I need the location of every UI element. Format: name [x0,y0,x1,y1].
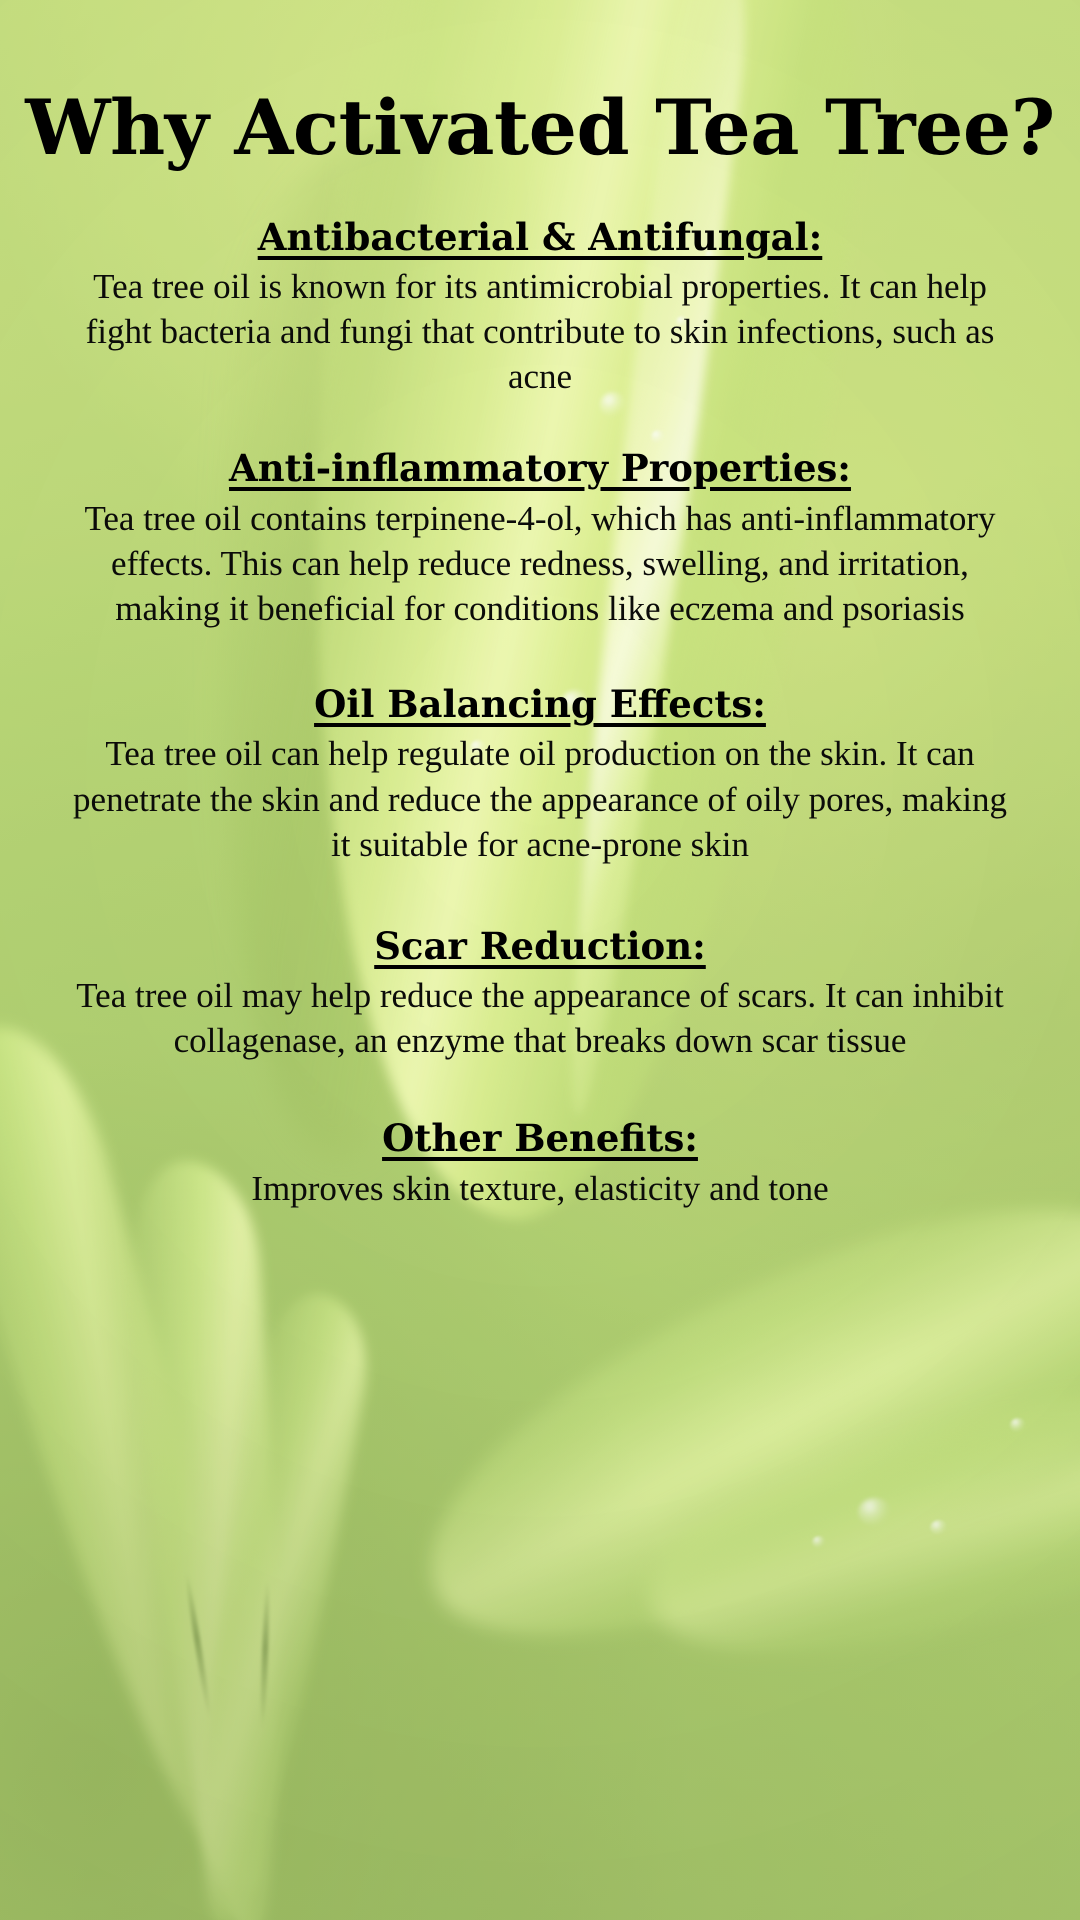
section-heading: Antibacterial & Antifungal: [36,214,1044,260]
benefit-section-anti-inflammatory: Anti-inflammatory Properties: Tea tree o… [0,445,1080,631]
section-body: Improves skin texture, elasticity and to… [60,1166,1020,1211]
water-droplet [858,1498,892,1526]
section-heading: Anti-inflammatory Properties: [36,445,1044,491]
section-body: Tea tree oil can help regulate oil produ… [60,731,1020,866]
background-stem-seam [259,1580,270,1730]
background-stem-seam [183,1570,212,1719]
section-heading: Other Benefits: [36,1115,1044,1161]
water-droplet [930,1520,948,1535]
benefit-section-oil-balancing: Oil Balancing Effects: Tea tree oil can … [0,681,1080,867]
water-droplet [812,1536,826,1548]
tea-tree-benefits-poster: Why Activated Tea Tree? Antibacterial & … [0,0,1080,1920]
benefit-section-other-benefits: Other Benefits: Improves skin texture, e… [0,1115,1080,1210]
benefit-section-antibacterial: Antibacterial & Antifungal: Tea tree oil… [0,214,1080,400]
water-droplet [1010,1418,1026,1432]
benefit-section-list: Antibacterial & Antifungal: Tea tree oil… [0,214,1080,1211]
benefit-section-scar-reduction: Scar Reduction: Tea tree oil may help re… [0,923,1080,1064]
page-title: Why Activated Tea Tree? [0,0,1080,168]
background-leaf-right [373,1139,1080,1701]
section-body: Tea tree oil is known for its antimicrob… [60,264,1020,399]
background-leaf-lower-right [625,1358,1080,1692]
background-stem-center [123,1156,307,1920]
section-heading: Oil Balancing Effects: [36,681,1044,727]
section-body: Tea tree oil contains terpinene-4-ol, wh… [60,496,1020,631]
background-stem-branch [160,1285,379,1920]
section-heading: Scar Reduction: [36,923,1044,969]
section-body: Tea tree oil may help reduce the appeara… [60,973,1020,1063]
poster-content: Why Activated Tea Tree? Antibacterial & … [0,0,1080,1211]
